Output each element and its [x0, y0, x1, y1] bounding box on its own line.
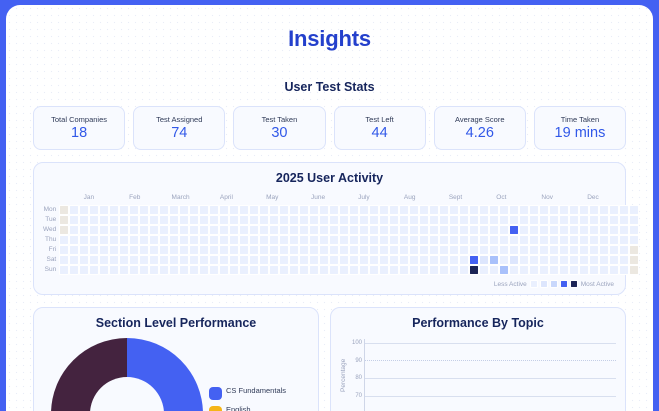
heatmap-cell[interactable]: [289, 245, 299, 255]
heatmap-cell[interactable]: [279, 205, 289, 215]
heatmap-cell[interactable]: [419, 255, 429, 265]
heatmap-cell[interactable]: [529, 245, 539, 255]
heatmap-cell[interactable]: [579, 215, 589, 225]
heatmap-cell[interactable]: [159, 245, 169, 255]
heatmap-cell[interactable]: [199, 225, 209, 235]
heatmap-cell[interactable]: [139, 225, 149, 235]
heatmap-cell[interactable]: [169, 245, 179, 255]
heatmap-cell[interactable]: [329, 265, 339, 275]
heatmap-cell[interactable]: [129, 225, 139, 235]
heatmap-cell[interactable]: [199, 235, 209, 245]
heatmap-cell[interactable]: [139, 255, 149, 265]
heatmap-cell[interactable]: [79, 265, 89, 275]
heatmap-cell[interactable]: [109, 245, 119, 255]
heatmap-cell[interactable]: [119, 265, 129, 275]
stat-card[interactable]: Average Score4.26: [434, 106, 526, 150]
heatmap-cell[interactable]: [179, 225, 189, 235]
heatmap-cell[interactable]: [199, 205, 209, 215]
heatmap-cell[interactable]: [399, 215, 409, 225]
heatmap-cell[interactable]: [69, 215, 79, 225]
heatmap-cell[interactable]: [599, 245, 609, 255]
heatmap-cell[interactable]: [499, 225, 509, 235]
heatmap-cell[interactable]: [169, 265, 179, 275]
heatmap-cell[interactable]: [289, 235, 299, 245]
heatmap-cell[interactable]: [459, 225, 469, 235]
heatmap-cell[interactable]: [469, 235, 479, 245]
heatmap-cell[interactable]: [159, 255, 169, 265]
heatmap-cell[interactable]: [399, 255, 409, 265]
heatmap-cell[interactable]: [89, 205, 99, 215]
heatmap-cell[interactable]: [389, 265, 399, 275]
heatmap-cell[interactable]: [99, 225, 109, 235]
heatmap-cell[interactable]: [399, 205, 409, 215]
heatmap-cell[interactable]: [339, 215, 349, 225]
heatmap-cell[interactable]: [69, 205, 79, 215]
heatmap-cell[interactable]: [89, 225, 99, 235]
heatmap-cell[interactable]: [609, 215, 619, 225]
heatmap-cell[interactable]: [259, 245, 269, 255]
heatmap-cell[interactable]: [219, 265, 229, 275]
heatmap-cell[interactable]: [569, 255, 579, 265]
heatmap-cell[interactable]: [229, 235, 239, 245]
heatmap-cell[interactable]: [69, 225, 79, 235]
heatmap-cell[interactable]: [119, 225, 129, 235]
heatmap-cell[interactable]: [629, 215, 639, 225]
heatmap-cell[interactable]: [139, 245, 149, 255]
heatmap-cell[interactable]: [339, 245, 349, 255]
heatmap-cell[interactable]: [439, 215, 449, 225]
heatmap-cell[interactable]: [579, 205, 589, 215]
heatmap-cell[interactable]: [239, 245, 249, 255]
heatmap-cell[interactable]: [319, 225, 329, 235]
heatmap-cell[interactable]: [289, 225, 299, 235]
heatmap-cell[interactable]: [149, 245, 159, 255]
heatmap-cell[interactable]: [209, 255, 219, 265]
heatmap-cell[interactable]: [109, 205, 119, 215]
heatmap-cell[interactable]: [169, 215, 179, 225]
heatmap-cell[interactable]: [589, 215, 599, 225]
heatmap-cell[interactable]: [109, 215, 119, 225]
heatmap-cell[interactable]: [109, 265, 119, 275]
heatmap-cell[interactable]: [529, 215, 539, 225]
heatmap-cell[interactable]: [289, 205, 299, 215]
heatmap-cell[interactable]: [209, 205, 219, 215]
heatmap-cell[interactable]: [349, 205, 359, 215]
heatmap-cell[interactable]: [619, 235, 629, 245]
heatmap-cell[interactable]: [339, 235, 349, 245]
heatmap-cell[interactable]: [629, 245, 639, 255]
heatmap-cell[interactable]: [159, 215, 169, 225]
heatmap-cell[interactable]: [519, 235, 529, 245]
heatmap-cell[interactable]: [89, 235, 99, 245]
heatmap-cell[interactable]: [259, 235, 269, 245]
heatmap-cell[interactable]: [259, 225, 269, 235]
heatmap-cell[interactable]: [599, 235, 609, 245]
heatmap-cell[interactable]: [509, 205, 519, 215]
heatmap-cell[interactable]: [429, 245, 439, 255]
heatmap-cell[interactable]: [539, 215, 549, 225]
heatmap-cell[interactable]: [589, 205, 599, 215]
donut-legend-item[interactable]: CS Fundamentals: [209, 386, 288, 400]
heatmap-cell[interactable]: [379, 235, 389, 245]
heatmap-cell[interactable]: [99, 265, 109, 275]
heatmap-cell[interactable]: [459, 215, 469, 225]
heatmap-cell[interactable]: [249, 255, 259, 265]
heatmap-cell[interactable]: [539, 255, 549, 265]
heatmap-cell[interactable]: [499, 255, 509, 265]
heatmap-cell[interactable]: [239, 235, 249, 245]
heatmap-cell[interactable]: [169, 225, 179, 235]
heatmap-cell[interactable]: [359, 245, 369, 255]
heatmap-cell[interactable]: [629, 235, 639, 245]
heatmap-cell[interactable]: [169, 235, 179, 245]
heatmap-cell[interactable]: [509, 235, 519, 245]
heatmap-cell[interactable]: [499, 235, 509, 245]
heatmap-cell[interactable]: [379, 215, 389, 225]
heatmap-cell[interactable]: [489, 205, 499, 215]
heatmap-cell[interactable]: [319, 215, 329, 225]
heatmap-cell[interactable]: [309, 265, 319, 275]
heatmap-cell[interactable]: [179, 245, 189, 255]
heatmap-cell[interactable]: [449, 225, 459, 235]
line-chart-plot-area[interactable]: [364, 339, 616, 411]
heatmap-cell[interactable]: [599, 205, 609, 215]
heatmap-cell[interactable]: [269, 245, 279, 255]
heatmap-cell[interactable]: [359, 235, 369, 245]
heatmap-cell[interactable]: [549, 245, 559, 255]
heatmap-cell[interactable]: [609, 255, 619, 265]
heatmap-cell[interactable]: [189, 235, 199, 245]
heatmap-cell[interactable]: [609, 235, 619, 245]
heatmap-cell[interactable]: [89, 265, 99, 275]
heatmap-cell[interactable]: [629, 255, 639, 265]
heatmap-cell[interactable]: [519, 265, 529, 275]
heatmap-cell[interactable]: [379, 245, 389, 255]
heatmap-cell[interactable]: [119, 215, 129, 225]
heatmap-cell[interactable]: [619, 265, 629, 275]
heatmap-cell[interactable]: [159, 235, 169, 245]
heatmap-cell[interactable]: [249, 245, 259, 255]
heatmap-cell[interactable]: [239, 265, 249, 275]
heatmap-cell[interactable]: [189, 265, 199, 275]
heatmap-cell[interactable]: [279, 255, 289, 265]
heatmap-cell[interactable]: [609, 245, 619, 255]
heatmap-cell[interactable]: [569, 215, 579, 225]
heatmap-cell[interactable]: [119, 245, 129, 255]
heatmap-cell[interactable]: [169, 205, 179, 215]
heatmap-cell[interactable]: [559, 255, 569, 265]
heatmap-cell[interactable]: [399, 245, 409, 255]
heatmap-cell[interactable]: [619, 225, 629, 235]
heatmap-cell[interactable]: [429, 265, 439, 275]
heatmap-cell[interactable]: [469, 215, 479, 225]
heatmap-cell[interactable]: [499, 205, 509, 215]
heatmap-cell[interactable]: [99, 205, 109, 215]
heatmap-cell[interactable]: [129, 265, 139, 275]
heatmap-cell[interactable]: [119, 255, 129, 265]
heatmap-cell[interactable]: [189, 215, 199, 225]
heatmap-cell[interactable]: [389, 205, 399, 215]
heatmap-cell[interactable]: [79, 255, 89, 265]
heatmap-cell[interactable]: [579, 245, 589, 255]
heatmap-cell[interactable]: [449, 205, 459, 215]
heatmap-cell[interactable]: [59, 255, 69, 265]
heatmap-cell[interactable]: [339, 265, 349, 275]
heatmap-cell[interactable]: [79, 225, 89, 235]
heatmap-cell[interactable]: [579, 235, 589, 245]
heatmap-cell[interactable]: [549, 225, 559, 235]
heatmap-cell[interactable]: [479, 235, 489, 245]
heatmap-cell[interactable]: [279, 235, 289, 245]
heatmap-cell[interactable]: [299, 255, 309, 265]
heatmap-cell[interactable]: [299, 225, 309, 235]
heatmap-cell[interactable]: [449, 245, 459, 255]
heatmap-cell[interactable]: [419, 215, 429, 225]
heatmap-cell[interactable]: [59, 225, 69, 235]
heatmap-cell[interactable]: [59, 245, 69, 255]
heatmap-cell[interactable]: [549, 265, 559, 275]
heatmap-cell[interactable]: [549, 235, 559, 245]
heatmap-cell[interactable]: [499, 265, 509, 275]
heatmap-cell[interactable]: [539, 265, 549, 275]
heatmap-cell[interactable]: [69, 255, 79, 265]
heatmap-cell[interactable]: [569, 265, 579, 275]
heatmap-cell[interactable]: [199, 265, 209, 275]
donut-legend-item[interactable]: English Proficiency: [209, 405, 288, 411]
heatmap-cell[interactable]: [339, 205, 349, 215]
heatmap-cell[interactable]: [559, 215, 569, 225]
heatmap-cell[interactable]: [509, 215, 519, 225]
heatmap-cell[interactable]: [449, 235, 459, 245]
heatmap-cell[interactable]: [569, 205, 579, 215]
heatmap-cell[interactable]: [79, 235, 89, 245]
heatmap-cell[interactable]: [309, 225, 319, 235]
heatmap-cell[interactable]: [469, 225, 479, 235]
heatmap-cell[interactable]: [269, 265, 279, 275]
heatmap-cell[interactable]: [289, 255, 299, 265]
heatmap-cell[interactable]: [589, 245, 599, 255]
heatmap-cell[interactable]: [359, 205, 369, 215]
heatmap-cell[interactable]: [409, 205, 419, 215]
heatmap-cell[interactable]: [599, 225, 609, 235]
heatmap-cell[interactable]: [609, 225, 619, 235]
heatmap-cell[interactable]: [319, 245, 329, 255]
heatmap-cell[interactable]: [429, 215, 439, 225]
heatmap-cell[interactable]: [589, 265, 599, 275]
heatmap-cell[interactable]: [549, 205, 559, 215]
heatmap-cell[interactable]: [349, 265, 359, 275]
heatmap-cell[interactable]: [299, 215, 309, 225]
heatmap-cell[interactable]: [399, 265, 409, 275]
heatmap-cell[interactable]: [489, 255, 499, 265]
heatmap-cell[interactable]: [519, 255, 529, 265]
heatmap-cell[interactable]: [269, 205, 279, 215]
heatmap-cell[interactable]: [349, 225, 359, 235]
heatmap-cell[interactable]: [479, 225, 489, 235]
heatmap-cell[interactable]: [339, 225, 349, 235]
heatmap-cell[interactable]: [199, 255, 209, 265]
heatmap-cell[interactable]: [449, 255, 459, 265]
heatmap-cell[interactable]: [279, 215, 289, 225]
heatmap-cell[interactable]: [229, 255, 239, 265]
heatmap-cell[interactable]: [579, 225, 589, 235]
heatmap-cell[interactable]: [129, 235, 139, 245]
heatmap-cell[interactable]: [359, 255, 369, 265]
heatmap-cell[interactable]: [149, 255, 159, 265]
heatmap-cell[interactable]: [489, 245, 499, 255]
heatmap-cell[interactable]: [329, 225, 339, 235]
heatmap-cell[interactable]: [119, 235, 129, 245]
heatmap-cell[interactable]: [189, 225, 199, 235]
heatmap-cell[interactable]: [539, 225, 549, 235]
heatmap-cell[interactable]: [479, 255, 489, 265]
heatmap-cell[interactable]: [369, 235, 379, 245]
heatmap-cell[interactable]: [559, 205, 569, 215]
heatmap-cell[interactable]: [609, 265, 619, 275]
heatmap-cell[interactable]: [169, 255, 179, 265]
heatmap-cell[interactable]: [249, 235, 259, 245]
heatmap-cell[interactable]: [569, 245, 579, 255]
heatmap-cell[interactable]: [399, 235, 409, 245]
heatmap-cell[interactable]: [329, 245, 339, 255]
heatmap-cell[interactable]: [429, 255, 439, 265]
heatmap-cell[interactable]: [439, 245, 449, 255]
heatmap-cell[interactable]: [319, 205, 329, 215]
heatmap-cell[interactable]: [489, 265, 499, 275]
heatmap-cell[interactable]: [589, 255, 599, 265]
heatmap-cell[interactable]: [599, 215, 609, 225]
heatmap-cell[interactable]: [469, 265, 479, 275]
heatmap-cell[interactable]: [149, 225, 159, 235]
heatmap-cell[interactable]: [409, 265, 419, 275]
heatmap-cell[interactable]: [389, 215, 399, 225]
heatmap-cell[interactable]: [469, 205, 479, 215]
heatmap-cell[interactable]: [149, 215, 159, 225]
heatmap-cell[interactable]: [609, 205, 619, 215]
heatmap-cell[interactable]: [459, 265, 469, 275]
heatmap-cell[interactable]: [339, 255, 349, 265]
heatmap-cell[interactable]: [139, 215, 149, 225]
heatmap-cell[interactable]: [249, 225, 259, 235]
heatmap-cell[interactable]: [549, 215, 559, 225]
heatmap-cell[interactable]: [219, 205, 229, 215]
heatmap-cell[interactable]: [139, 265, 149, 275]
heatmap-cell[interactable]: [629, 225, 639, 235]
heatmap-cell[interactable]: [619, 245, 629, 255]
heatmap-cell[interactable]: [539, 235, 549, 245]
heatmap-cell[interactable]: [179, 235, 189, 245]
heatmap-cell[interactable]: [79, 205, 89, 215]
heatmap-cell[interactable]: [399, 225, 409, 235]
heatmap-cell[interactable]: [189, 205, 199, 215]
heatmap-cell[interactable]: [249, 205, 259, 215]
heatmap-cell[interactable]: [409, 235, 419, 245]
heatmap-cell[interactable]: [229, 205, 239, 215]
heatmap-cell[interactable]: [289, 265, 299, 275]
heatmap-cell[interactable]: [419, 235, 429, 245]
heatmap-cell[interactable]: [209, 215, 219, 225]
heatmap-cell[interactable]: [179, 255, 189, 265]
heatmap-cell[interactable]: [429, 205, 439, 215]
heatmap-cell[interactable]: [209, 225, 219, 235]
heatmap-cell[interactable]: [419, 225, 429, 235]
heatmap-cell[interactable]: [429, 235, 439, 245]
heatmap-cell[interactable]: [269, 225, 279, 235]
heatmap-cell[interactable]: [509, 245, 519, 255]
heatmap-cell[interactable]: [369, 265, 379, 275]
heatmap-cell[interactable]: [319, 235, 329, 245]
heatmap-cell[interactable]: [269, 235, 279, 245]
heatmap-cell[interactable]: [439, 265, 449, 275]
heatmap-cell[interactable]: [419, 205, 429, 215]
heatmap-cell[interactable]: [329, 205, 339, 215]
heatmap-cell[interactable]: [199, 245, 209, 255]
heatmap-cell[interactable]: [359, 265, 369, 275]
heatmap-cell[interactable]: [529, 205, 539, 215]
heatmap-cell[interactable]: [389, 235, 399, 245]
heatmap-cell[interactable]: [349, 235, 359, 245]
heatmap-cell[interactable]: [519, 225, 529, 235]
heatmap-cell[interactable]: [619, 215, 629, 225]
heatmap-cell[interactable]: [439, 225, 449, 235]
heatmap-cell[interactable]: [459, 205, 469, 215]
heatmap-cell[interactable]: [139, 235, 149, 245]
heatmap-cell[interactable]: [309, 205, 319, 215]
heatmap-cell[interactable]: [199, 215, 209, 225]
heatmap-cell[interactable]: [189, 245, 199, 255]
heatmap-cell[interactable]: [239, 205, 249, 215]
heatmap-cell[interactable]: [119, 205, 129, 215]
heatmap-cell[interactable]: [489, 235, 499, 245]
heatmap-cell[interactable]: [599, 255, 609, 265]
stat-card[interactable]: Time Taken19 mins: [534, 106, 626, 150]
heatmap-cell[interactable]: [549, 255, 559, 265]
heatmap-cell[interactable]: [379, 255, 389, 265]
heatmap-cell[interactable]: [219, 245, 229, 255]
heatmap-cell[interactable]: [319, 255, 329, 265]
heatmap-cell[interactable]: [159, 205, 169, 215]
heatmap-cell[interactable]: [309, 245, 319, 255]
heatmap-cell[interactable]: [229, 225, 239, 235]
heatmap-cell[interactable]: [59, 215, 69, 225]
heatmap-cell[interactable]: [209, 245, 219, 255]
heatmap-cell[interactable]: [59, 265, 69, 275]
stat-card[interactable]: Test Left44: [334, 106, 426, 150]
heatmap-cell[interactable]: [469, 245, 479, 255]
heatmap-cell[interactable]: [89, 215, 99, 225]
heatmap-cell[interactable]: [559, 235, 569, 245]
heatmap-cell[interactable]: [409, 245, 419, 255]
heatmap-cell[interactable]: [129, 215, 139, 225]
heatmap-cell[interactable]: [349, 215, 359, 225]
heatmap-cell[interactable]: [229, 215, 239, 225]
heatmap-cell[interactable]: [209, 235, 219, 245]
heatmap-cell[interactable]: [249, 265, 259, 275]
heatmap-cell[interactable]: [469, 255, 479, 265]
heatmap-cell[interactable]: [429, 225, 439, 235]
heatmap-cell[interactable]: [129, 245, 139, 255]
heatmap-cell[interactable]: [389, 225, 399, 235]
stat-card[interactable]: Test Taken30: [233, 106, 325, 150]
heatmap-cell[interactable]: [629, 265, 639, 275]
heatmap-cell[interactable]: [89, 255, 99, 265]
heatmap-cell[interactable]: [459, 235, 469, 245]
heatmap-cell[interactable]: [309, 215, 319, 225]
heatmap-cell[interactable]: [229, 245, 239, 255]
heatmap-cell[interactable]: [179, 215, 189, 225]
heatmap-cell[interactable]: [239, 225, 249, 235]
heatmap-cell[interactable]: [109, 235, 119, 245]
